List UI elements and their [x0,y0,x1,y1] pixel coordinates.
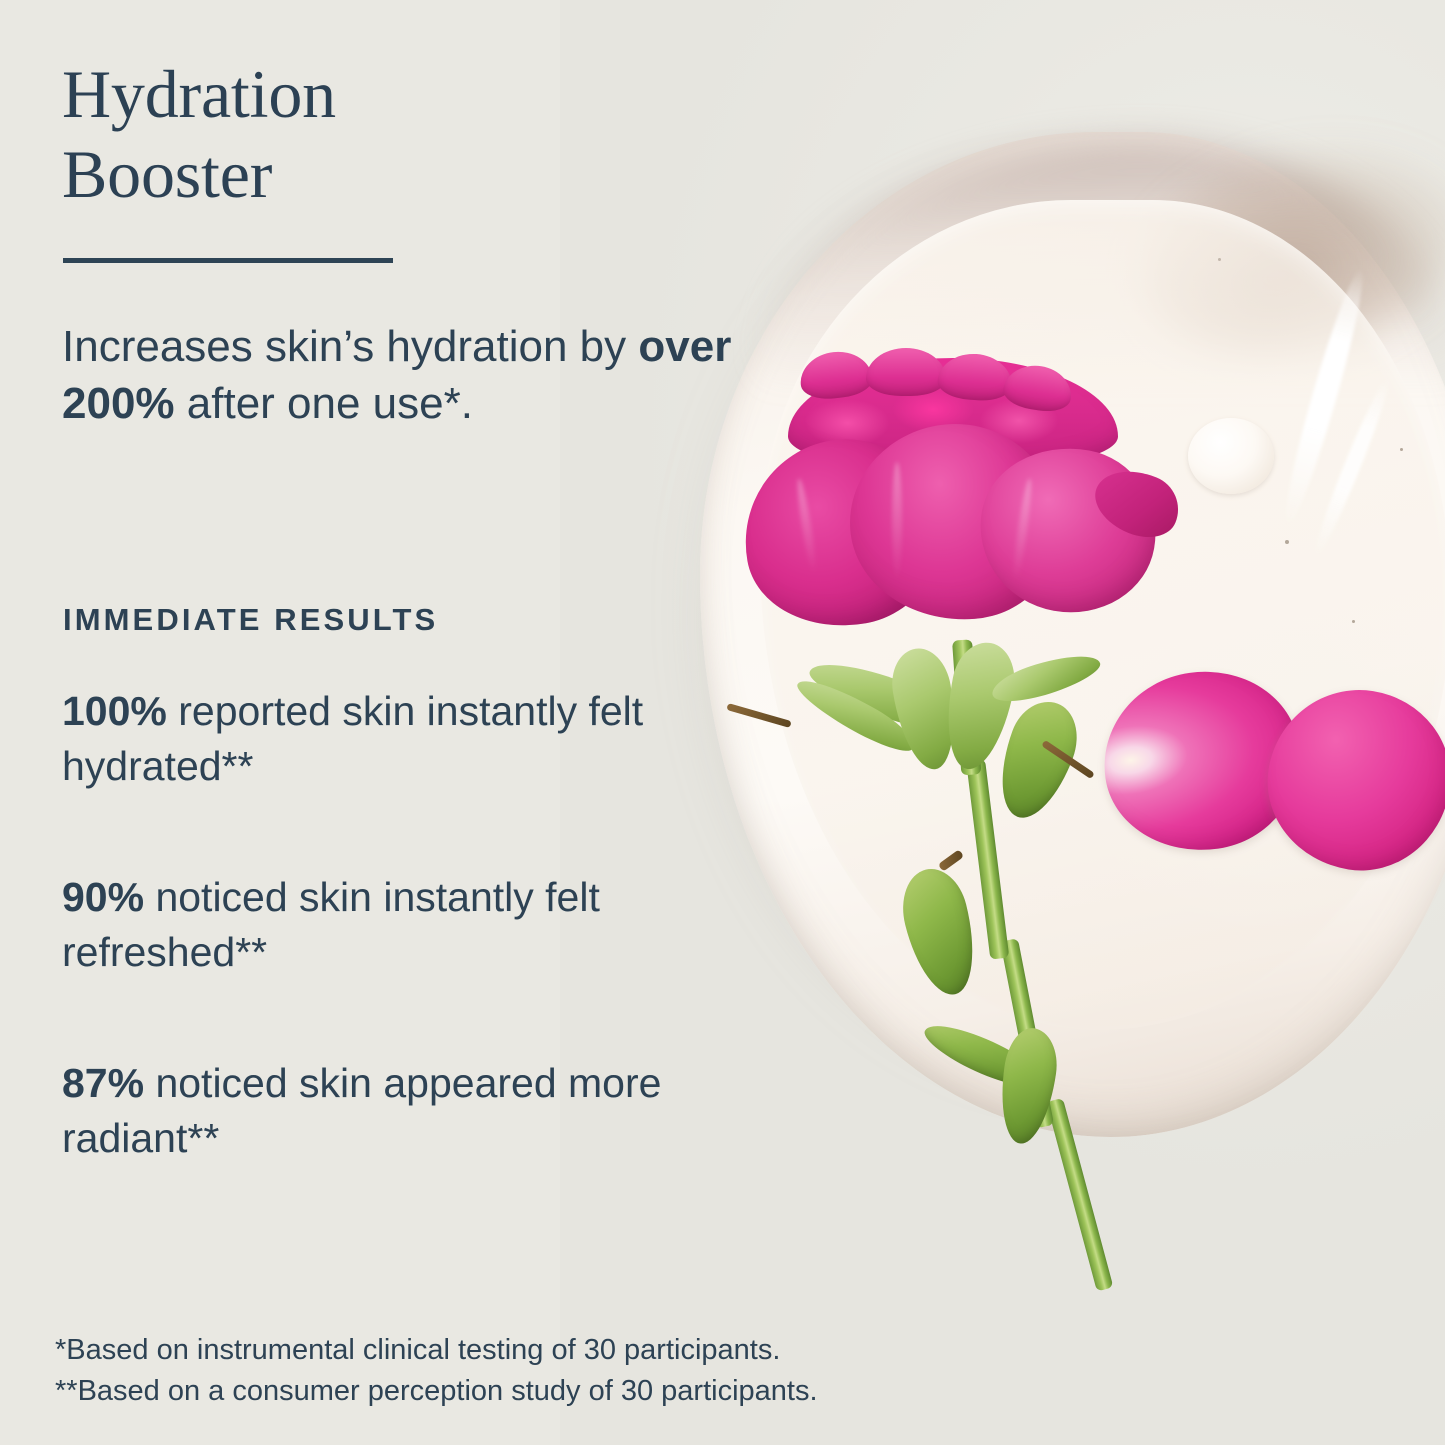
stat-item-2: 90% noticed skin instantly felt refreshe… [62,870,742,979]
rose-bloom [742,352,1182,652]
title-divider [63,258,393,263]
page-title: Hydration Booster [62,54,682,214]
stat-percent-1: 100% [62,688,167,734]
stat-item-1: 100% reported skin instantly felt hydrat… [62,684,742,793]
copy-panel: Hydration Booster Increases skin’s hydra… [0,0,760,1445]
title-line-1: Hydration [62,54,682,134]
marketing-infographic: Hydration Booster Increases skin’s hydra… [0,0,1445,1445]
stat-percent-3: 87% [62,1060,144,1106]
serum-droplet [1188,418,1274,494]
title-line-2: Booster [62,134,682,214]
subtitle: Increases skin’s hydration by over 200% … [62,318,762,432]
footnote-2: **Based on a consumer perception study o… [55,1371,1015,1412]
rose-petal-highlight [892,462,902,582]
results-kicker: IMMEDIATE RESULTS [63,602,438,638]
subtitle-part-2: after one use*. [175,379,473,428]
serum-speck [1352,620,1355,623]
rose-ruffle [866,348,946,396]
stat-text-3: noticed skin appeared more radiant** [62,1060,661,1161]
footnotes: *Based on instrumental clinical testing … [55,1330,1015,1412]
subtitle-part-1: Increases skin’s hydration by [62,322,638,371]
serum-speck [1285,540,1289,544]
stat-item-3: 87% noticed skin appeared more radiant** [62,1056,742,1165]
footnote-1: *Based on instrumental clinical testing … [55,1330,1015,1371]
stat-percent-2: 90% [62,874,144,920]
serum-speck [1400,448,1403,451]
serum-speck [1218,258,1221,261]
